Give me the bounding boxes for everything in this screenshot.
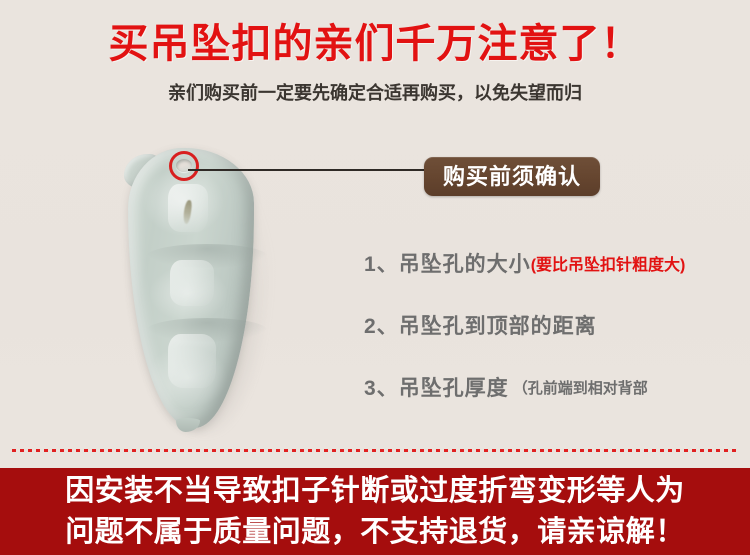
badge-label: 购买前须确认: [443, 157, 581, 196]
page-title: 买吊坠扣的亲们千万注意了！: [0, 16, 750, 72]
checklist-item-1-text: 吊坠孔的大小: [399, 248, 531, 278]
checklist-item-2-marker: 2、: [364, 310, 399, 340]
list-item: 1、 吊坠孔的大小 (要比吊坠扣针粗度大): [364, 232, 750, 294]
callout-leader-line: [188, 169, 426, 171]
checklist-item-1-marker: 1、: [364, 248, 399, 278]
checklist: 1、 吊坠孔的大小 (要比吊坠扣针粗度大) 2、 吊坠孔到顶部的距离 3、 吊坠…: [364, 232, 750, 418]
checklist-item-2-text: 吊坠孔到顶部的距离: [399, 310, 597, 340]
promo-banner-page: 买吊坠扣的亲们千万注意了！ 亲们购买前一定要先确定合适再购买，以免失望而归 购买…: [0, 0, 750, 555]
checklist-item-3-text: 吊坠孔厚度: [399, 372, 509, 402]
list-item: 3、 吊坠孔厚度 （孔前端到相对背部: [364, 356, 750, 418]
checklist-item-3-note: （孔前端到相对背部: [509, 377, 648, 398]
disclaimer-banner: 因安装不当导致扣子针断或过度折弯变形等人为 问题不属于质量问题，不支持退货，请亲…: [0, 468, 750, 555]
checklist-item-3-marker: 3、: [364, 372, 399, 402]
page-subtitle: 亲们购买前一定要先确定合适再购买，以免失望而归: [0, 79, 750, 107]
checklist-item-1-note: (要比吊坠扣针粗度大): [531, 251, 686, 275]
pendant-facet-middle: [170, 260, 214, 306]
dotted-divider: [12, 449, 738, 452]
confirm-before-purchase-badge: 购买前须确认: [424, 157, 600, 196]
list-item: 2、 吊坠孔到顶部的距离: [364, 294, 750, 356]
disclaimer-line-1: 因安装不当导致扣子针断或过度折弯变形等人为: [65, 471, 685, 512]
disclaimer-line-2: 问题不属于质量问题，不支持退货，请亲谅解！: [65, 512, 685, 553]
annotation-circle-icon: [169, 151, 199, 181]
jade-pendant-image: [112, 142, 287, 437]
pendant-facet-bottom: [168, 334, 216, 388]
divider-gap: [0, 456, 750, 468]
